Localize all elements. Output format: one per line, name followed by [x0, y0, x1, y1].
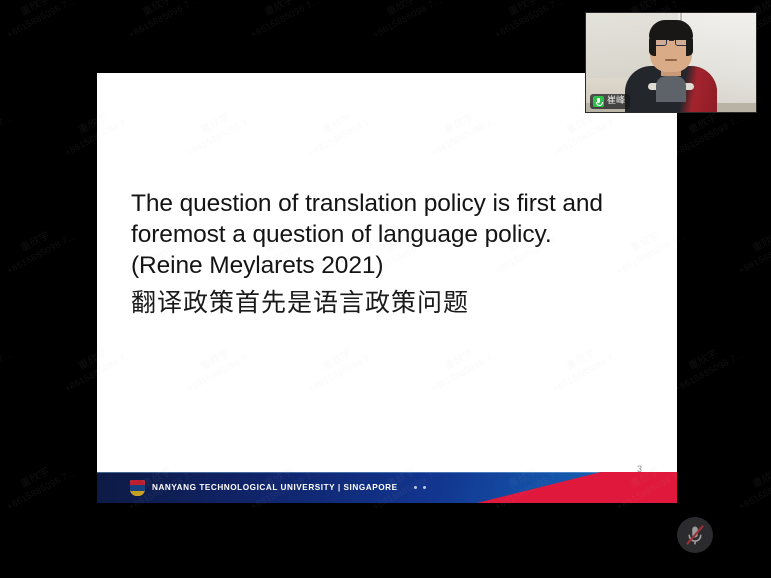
watermark-text: 重欣宇+8615885098 7...	[179, 573, 258, 578]
microphone-muted-icon	[677, 517, 713, 553]
mic-mute-button[interactable]	[677, 517, 713, 553]
participant-name-label: 崔峰	[607, 97, 625, 106]
watermark-text: 重欣宇+8615885098 7...	[301, 573, 380, 578]
footer-location: SINGAPORE	[344, 483, 398, 492]
footer-dot-1	[414, 486, 417, 489]
watermark-text: 重欣宇+8615885098 7...	[0, 455, 78, 512]
slide-line-en-2: foremost a question of language policy.	[131, 219, 647, 250]
footer-red-accent-wedge	[477, 472, 677, 503]
watermark-text: 重欣宇+8615885098 7...	[0, 337, 14, 394]
watermark-text: 重欣宇+8615885098 7...	[0, 573, 14, 578]
footer-dot-2	[423, 486, 426, 489]
webcam-video-tile[interactable]: 崔峰	[585, 12, 757, 113]
slide-footer-banner: NANYANG TECHNOLOGICAL UNIVERSITY | SINGA…	[97, 472, 677, 503]
watermark-text: 重欣宇+8615885098 7...	[423, 573, 502, 578]
slide-line-cn: 翻译政策首先是语言政策问题	[131, 285, 647, 321]
footer-separator: |	[338, 483, 341, 492]
footer-decorative-dots	[414, 486, 426, 489]
footer-organization-label: NANYANG TECHNOLOGICAL UNIVERSITY | SINGA…	[152, 483, 398, 492]
watermark-text: 重欣宇+8615885098 7...	[545, 573, 624, 578]
slide-text-block: The question of translation policy is fi…	[131, 188, 647, 321]
watermark-text: 重欣宇+8615885098 7...	[667, 573, 746, 578]
presentation-slide[interactable]: The question of translation policy is fi…	[97, 73, 677, 503]
watermark-text: 重欣宇+8615885098 7...	[667, 337, 746, 394]
participant-name-badge: 崔峰	[590, 94, 630, 109]
watermark-text: 重欣宇+8615885098 7...	[121, 0, 200, 40]
watermark-text: 重欣宇+8615885098 7...	[243, 0, 322, 40]
watermark-text: 重欣宇+8615885098 7...	[365, 0, 444, 40]
watermark-text: 重欣宇+8615885098 7...	[57, 573, 136, 578]
watermark-text: 重欣宇+8615885098 7...	[0, 219, 78, 276]
footer-org-name: NANYANG TECHNOLOGICAL UNIVERSITY	[152, 483, 335, 492]
watermark-text: 重欣宇+8615885098 7...	[0, 101, 14, 158]
slide-line-en-3: (Reine Meylarets 2021)	[131, 250, 647, 281]
watermark-text: 重欣宇+8615885098 7...	[0, 0, 78, 40]
watermark-text: 重欣宇+8615885098 7...	[487, 0, 566, 40]
participant-hair	[649, 20, 693, 40]
screen-share-stage: The question of translation policy is fi…	[0, 0, 771, 578]
microphone-active-icon	[593, 96, 604, 107]
watermark-text: 重欣宇+8615885098 7...	[731, 219, 771, 276]
ntu-crest-icon	[130, 480, 145, 496]
slide-line-en-1: The question of translation policy is fi…	[131, 188, 647, 219]
watermark-text: 重欣宇+8615885098 7...	[731, 455, 771, 512]
